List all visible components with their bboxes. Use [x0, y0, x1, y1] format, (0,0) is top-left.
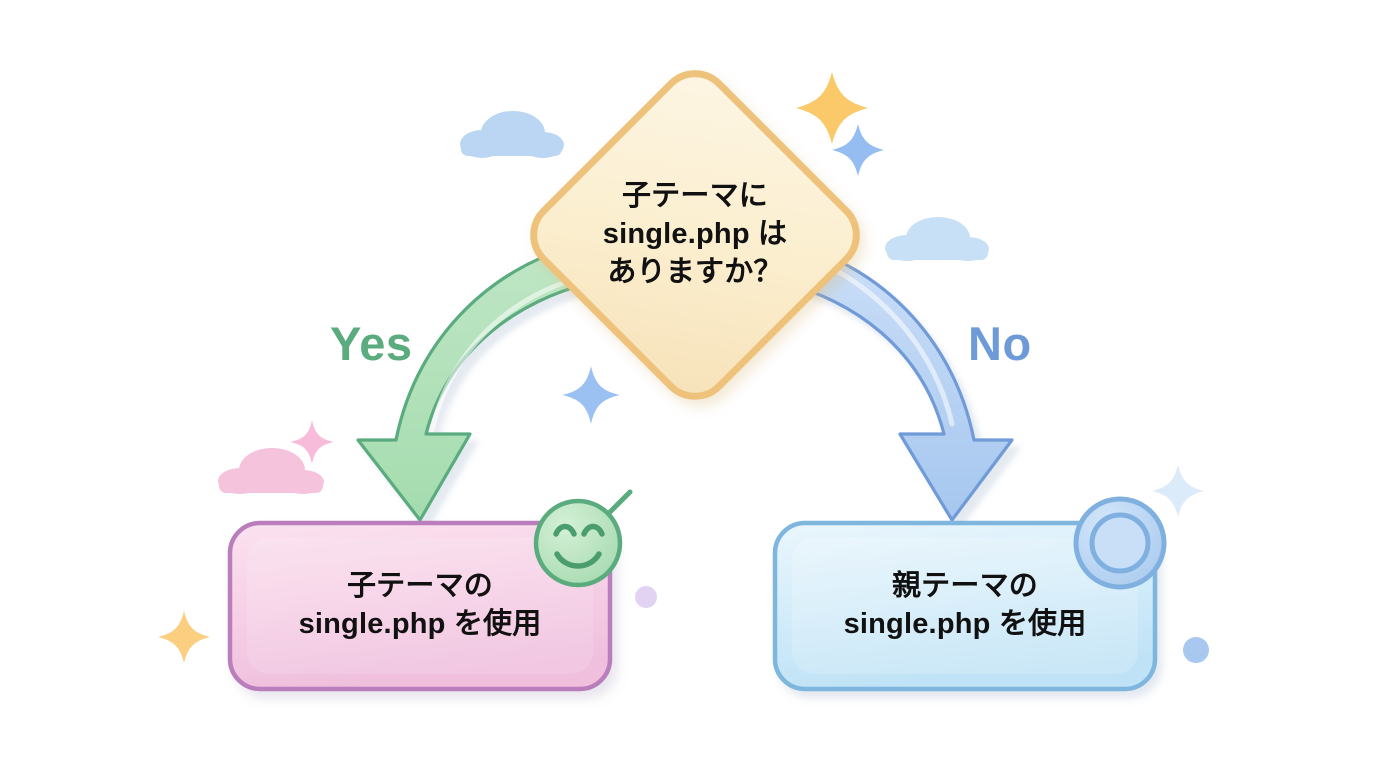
smiley-face-badge-icon — [536, 492, 630, 585]
diagram-canvas: 子テーマに single.php は ありますか？ 子テーマの single.p… — [0, 0, 1376, 768]
ring-badge-icon — [1076, 499, 1164, 587]
decision-node[interactable] — [520, 60, 871, 411]
nodes-layer — [0, 0, 1376, 768]
